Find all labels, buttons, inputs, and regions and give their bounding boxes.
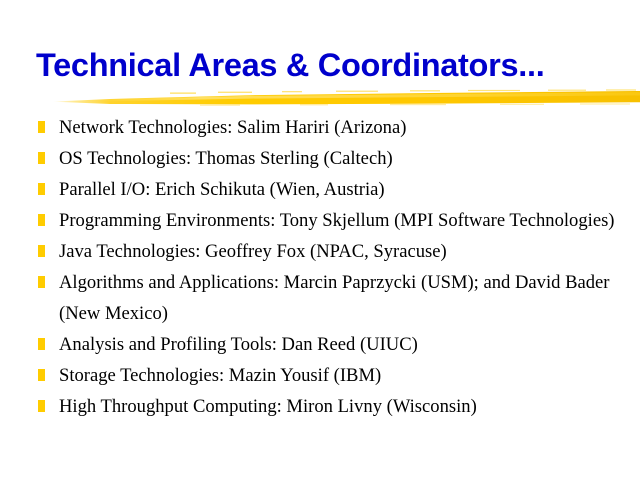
list-item-label: Analysis and Profiling Tools: Dan Reed (… [59, 329, 632, 360]
square-bullet-icon [38, 400, 45, 412]
list-item: Network Technologies: Salim Hariri (Ariz… [0, 112, 640, 143]
list-item: High Throughput Computing: Miron Livny (… [0, 391, 640, 422]
list-item: Algorithms and Applications: Marcin Papr… [0, 267, 640, 329]
list-item-label: Network Technologies: Salim Hariri (Ariz… [59, 112, 632, 143]
list-item: Analysis and Profiling Tools: Dan Reed (… [0, 329, 640, 360]
square-bullet-icon [38, 152, 45, 164]
list-item-label: OS Technologies: Thomas Sterling (Caltec… [59, 143, 632, 174]
slide-canvas: Technical Areas & Coordinators... [0, 0, 640, 480]
bullet-list: Network Technologies: Salim Hariri (Ariz… [0, 112, 640, 422]
list-item-label: Parallel I/O: Erich Schikuta (Wien, Aust… [59, 174, 632, 205]
list-item-label: Programming Environments: Tony Skjellum … [59, 205, 632, 236]
square-bullet-icon [38, 369, 45, 381]
page-title: Technical Areas & Coordinators... [36, 46, 544, 84]
list-item-label: Algorithms and Applications: Marcin Papr… [59, 267, 632, 329]
list-item: OS Technologies: Thomas Sterling (Caltec… [0, 143, 640, 174]
list-item: Parallel I/O: Erich Schikuta (Wien, Aust… [0, 174, 640, 205]
square-bullet-icon [38, 338, 45, 350]
list-item: Programming Environments: Tony Skjellum … [0, 205, 640, 236]
list-item-label: Java Technologies: Geoffrey Fox (NPAC, S… [59, 236, 632, 267]
list-item: Java Technologies: Geoffrey Fox (NPAC, S… [0, 236, 640, 267]
square-bullet-icon [38, 214, 45, 226]
square-bullet-icon [38, 121, 45, 133]
list-item: Storage Technologies: Mazin Yousif (IBM) [0, 360, 640, 391]
list-item-label: Storage Technologies: Mazin Yousif (IBM) [59, 360, 632, 391]
title-block: Technical Areas & Coordinators... [0, 46, 640, 108]
square-bullet-icon [38, 245, 45, 257]
square-bullet-icon [38, 183, 45, 195]
square-bullet-icon [38, 276, 45, 288]
list-item-label: High Throughput Computing: Miron Livny (… [59, 391, 632, 422]
